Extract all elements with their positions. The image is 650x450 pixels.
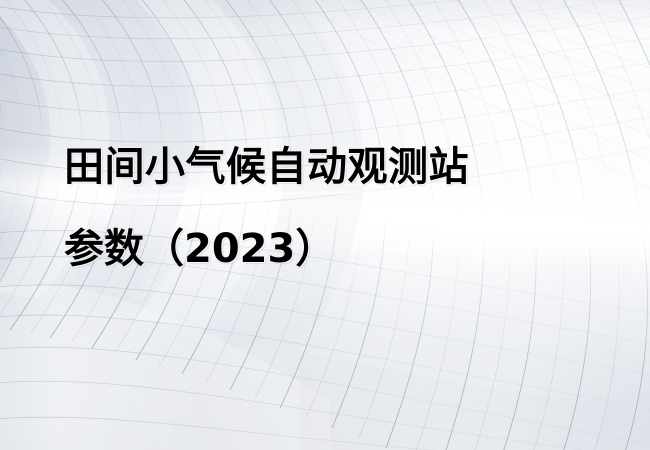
title-line-1: 田间小气候自动观测站	[64, 126, 604, 208]
title-slide: 田间小气候自动观测站 参数（2023）	[0, 0, 650, 450]
slide-title: 田间小气候自动观测站 参数（2023）	[64, 126, 604, 290]
title-line-2: 参数（2023）	[64, 208, 604, 290]
